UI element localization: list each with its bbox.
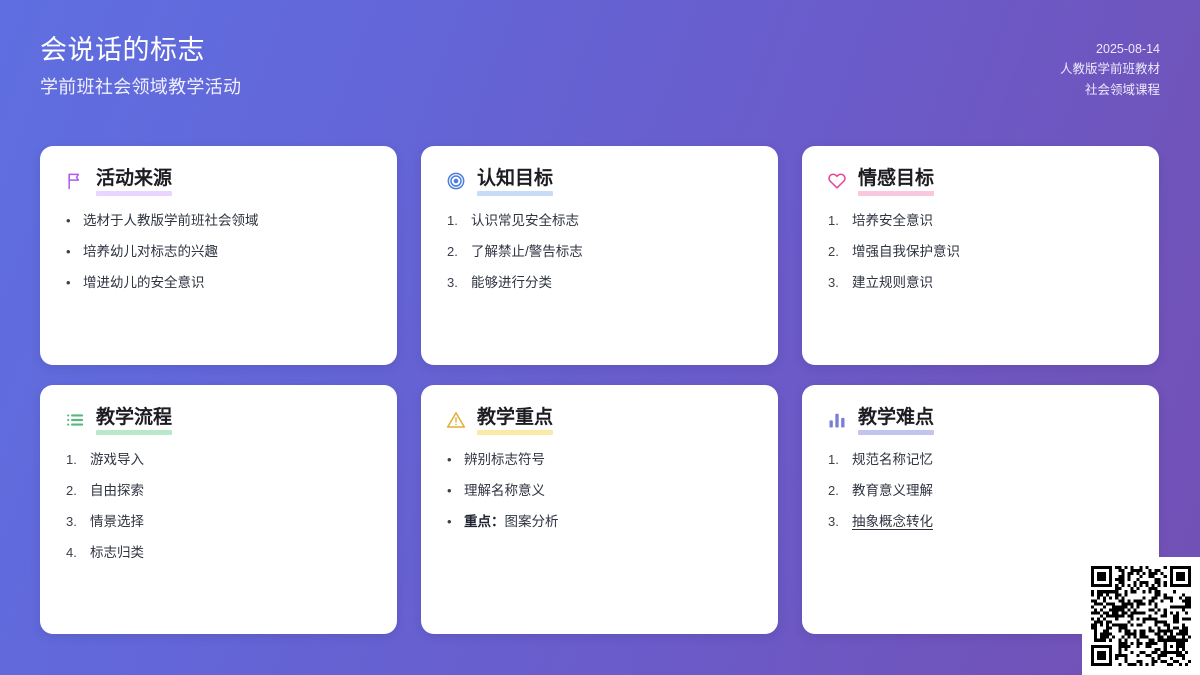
list-item-text: 自由探索: [90, 482, 373, 500]
card-header: 情感目标: [826, 168, 1135, 194]
list-bullet: •: [447, 482, 455, 500]
card-title: 教学重点: [477, 407, 553, 433]
list-item: 3.能够进行分类: [447, 274, 754, 292]
card-title: 教学流程: [96, 407, 172, 433]
header-meta-block: 2025-08-14 人教版学前班教材 社会领域课程: [1060, 34, 1160, 100]
list-item-text: 标志归类: [90, 544, 373, 562]
list-item: 3.情景选择: [66, 513, 373, 531]
list-item: •培养幼儿对标志的兴趣: [66, 243, 373, 261]
page-title: 会说话的标志: [40, 34, 241, 68]
list-item: 1.游戏导入: [66, 451, 373, 469]
list-item-text: 培养幼儿对标志的兴趣: [83, 243, 373, 261]
card-header: 活动来源: [64, 168, 373, 194]
list-item-text: 规范名称记忆: [852, 451, 1135, 469]
list-number: 3.: [447, 274, 462, 292]
list-number: 2.: [66, 482, 81, 500]
list-item-text: 游戏导入: [90, 451, 373, 469]
list-number: 2.: [447, 243, 462, 261]
list-item: •增进幼儿的安全意识: [66, 274, 373, 292]
list-item-text: 了解禁止/警告标志: [471, 243, 754, 261]
list-item: 1.培养安全意识: [828, 212, 1135, 230]
list-item-text: 教育意义理解: [852, 482, 1135, 500]
card-list: •辨别标志符号•理解名称意义•重点：图案分析: [445, 451, 754, 532]
list-item-text: 理解名称意义: [464, 482, 754, 500]
list-number: 3.: [66, 513, 81, 531]
slide-root: 会说话的标志 学前班社会领域教学活动 2025-08-14 人教版学前班教材 社…: [0, 0, 1200, 675]
list-item-text: 认识常见安全标志: [471, 212, 754, 230]
list-item-rest: 图案分析: [505, 514, 559, 529]
list-bullet: •: [447, 513, 455, 531]
list-item: 2.自由探索: [66, 482, 373, 500]
flag-icon: [64, 170, 86, 192]
card-title: 活动来源: [96, 168, 172, 194]
card-title: 认知目标: [477, 168, 553, 194]
card-cognitive-goal: 认知目标1.认识常见安全标志2.了解禁止/警告标志3.能够进行分类: [421, 146, 778, 365]
list-item: 3.建立规则意识: [828, 274, 1135, 292]
card-header: 教学重点: [445, 407, 754, 433]
list-item-text: 增进幼儿的安全意识: [83, 274, 373, 292]
list-number: 1.: [828, 451, 843, 469]
list-item: 1.认识常见安全标志: [447, 212, 754, 230]
list-item-text: 抽象概念转化: [852, 513, 1135, 531]
card-teaching-flow: 教学流程1.游戏导入2.自由探索3.情景选择4.标志归类: [40, 385, 397, 634]
list-number: 2.: [828, 482, 843, 500]
card-header: 教学流程: [64, 407, 373, 433]
list-item-text: 能够进行分类: [471, 274, 754, 292]
list-item-text: 培养安全意识: [852, 212, 1135, 230]
list-number: 3.: [828, 513, 843, 531]
card-title: 情感目标: [858, 168, 934, 194]
list-item-text: 情景选择: [90, 513, 373, 531]
bar-chart-icon: [826, 409, 848, 431]
list-item-text: 建立规则意识: [852, 274, 1135, 292]
page-subtitle: 学前班社会领域教学活动: [40, 76, 241, 99]
list-item-text: 辨别标志符号: [464, 451, 754, 469]
list-number: 1.: [66, 451, 81, 469]
warning-icon: [445, 409, 467, 431]
list-number: 2.: [828, 243, 843, 261]
card-list: 1.游戏导入2.自由探索3.情景选择4.标志归类: [64, 451, 373, 563]
list-item-text: 增强自我保护意识: [852, 243, 1135, 261]
target-icon: [445, 170, 467, 192]
card-list: 1.认识常见安全标志2.了解禁止/警告标志3.能够进行分类: [445, 212, 754, 293]
list-bullet: •: [66, 212, 74, 230]
list-item: •辨别标志符号: [447, 451, 754, 469]
list-item: 2.增强自我保护意识: [828, 243, 1135, 261]
list-bullet: •: [66, 243, 74, 261]
list-item: 1.规范名称记忆: [828, 451, 1135, 469]
card-activity-source: 活动来源•选材于人教版学前班社会领域•培养幼儿对标志的兴趣•增进幼儿的安全意识: [40, 146, 397, 365]
list-number: 3.: [828, 274, 843, 292]
list-item-text: 选材于人教版学前班社会领域: [83, 212, 373, 230]
heart-icon: [826, 170, 848, 192]
meta-course: 社会领域课程: [1060, 80, 1160, 100]
card-title: 教学难点: [858, 407, 934, 433]
list-item: •重点：图案分析: [447, 513, 754, 531]
meta-date: 2025-08-14: [1060, 39, 1160, 59]
card-emotional-goal: 情感目标1.培养安全意识2.增强自我保护意识3.建立规则意识: [802, 146, 1159, 365]
list-item-text: 重点：图案分析: [464, 513, 754, 531]
list-item: •选材于人教版学前班社会领域: [66, 212, 373, 230]
list-number: 4.: [66, 544, 81, 562]
list-bullet: •: [66, 274, 74, 292]
meta-textbook: 人教版学前班教材: [1060, 59, 1160, 79]
card-list: 1.培养安全意识2.增强自我保护意识3.建立规则意识: [826, 212, 1135, 293]
list-number: 1.: [828, 212, 843, 230]
card-list: •选材于人教版学前班社会领域•培养幼儿对标志的兴趣•增进幼儿的安全意识: [64, 212, 373, 293]
list-item: 4.标志归类: [66, 544, 373, 562]
list-number: 1.: [447, 212, 462, 230]
list-item: 3.抽象概念转化: [828, 513, 1135, 531]
list-item: •理解名称意义: [447, 482, 754, 500]
qr-code-container[interactable]: [1082, 557, 1200, 675]
card-teaching-focus: 教学重点•辨别标志符号•理解名称意义•重点：图案分析: [421, 385, 778, 634]
header-title-block: 会说话的标志 学前班社会领域教学活动: [40, 34, 241, 99]
card-grid: 活动来源•选材于人教版学前班社会领域•培养幼儿对标志的兴趣•增进幼儿的安全意识认…: [40, 146, 1160, 634]
list-icon: [64, 409, 86, 431]
card-header: 认知目标: [445, 168, 754, 194]
list-bullet: •: [447, 451, 455, 469]
slide-header: 会说话的标志 学前班社会领域教学活动 2025-08-14 人教版学前班教材 社…: [0, 0, 1200, 132]
list-item: 2.了解禁止/警告标志: [447, 243, 754, 261]
card-header: 教学难点: [826, 407, 1135, 433]
card-list: 1.规范名称记忆2.教育意义理解3.抽象概念转化: [826, 451, 1135, 532]
qr-code: [1091, 566, 1191, 666]
list-item-emphasis: 重点：: [464, 514, 505, 529]
list-item: 2.教育意义理解: [828, 482, 1135, 500]
